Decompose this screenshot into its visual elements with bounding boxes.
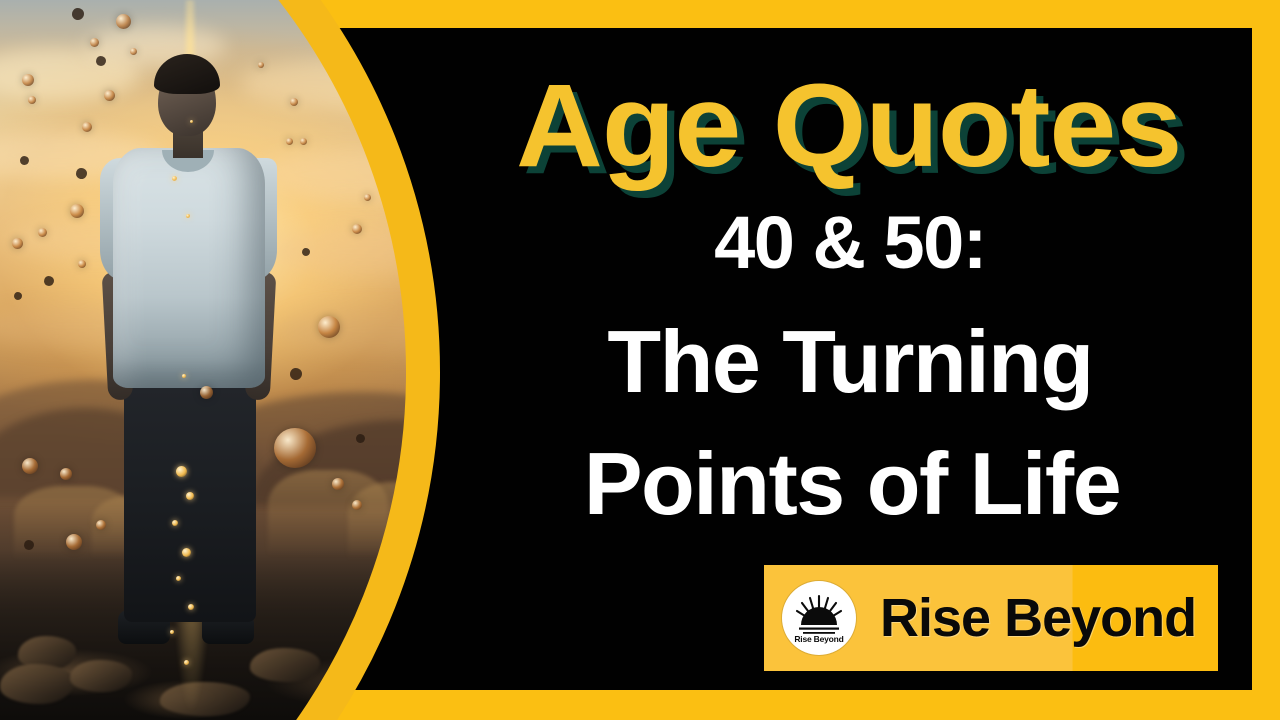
yellow-arc-divider <box>0 0 440 720</box>
subtitle-line-2: The Turning <box>500 318 1200 406</box>
subtitle-line-1: 40 & 50: <box>500 206 1200 280</box>
page-title: Age Quotes <box>516 70 1181 182</box>
brand-name: Rise Beyond <box>880 587 1196 649</box>
thumbnail-canvas: Age Quotes 40 & 50: The Turning Points o… <box>0 0 1280 720</box>
sunrise-icon: Rise Beyond <box>782 581 856 655</box>
brand-logo-caption: Rise Beyond <box>782 634 856 644</box>
subtitle-line-3: Points of Life <box>494 440 1210 528</box>
text-content-column: Age Quotes 40 & 50: The Turning Points o… <box>470 28 1252 690</box>
brand-badge[interactable]: Rise Beyond Rise Beyond <box>764 565 1218 671</box>
